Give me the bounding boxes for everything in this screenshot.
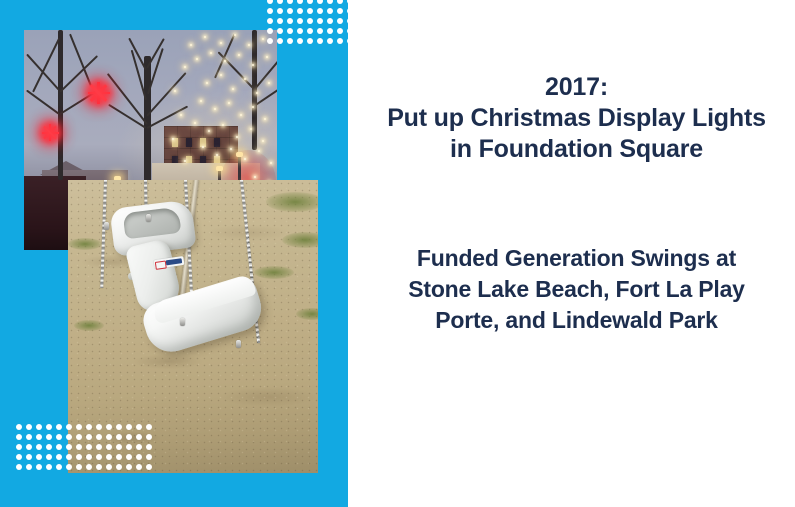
subheadline-line-3: Porte, and Lindewald Park xyxy=(368,305,786,336)
text-column: 2017: Put up Christmas Display Lights in… xyxy=(358,0,795,507)
headline-block: 2017: Put up Christmas Display Lights in… xyxy=(371,72,783,165)
photo-generation-swing xyxy=(68,180,318,473)
chain-clip xyxy=(146,214,151,222)
chain-clip xyxy=(180,318,185,326)
grass-patch xyxy=(74,320,104,331)
street-lamp-head xyxy=(236,152,243,157)
chain-clip xyxy=(236,340,241,348)
subheadline-block: Funded Generation Swings at Stone Lake B… xyxy=(368,165,786,336)
tree-trunk-left xyxy=(58,30,63,180)
subheadline-line-2: Stone Lake Beach, Fort La Play xyxy=(368,274,786,305)
grass-patch xyxy=(254,266,294,279)
headline-line-2: Put up Christmas Display Lights xyxy=(371,103,783,134)
subheadline-line-1: Funded Generation Swings at xyxy=(368,243,786,274)
grass-patch xyxy=(266,192,318,212)
street-lamp-head-2 xyxy=(216,166,223,171)
slide-canvas: 2017: Put up Christmas Display Lights in… xyxy=(0,0,795,507)
grass-patch xyxy=(68,238,102,250)
chain-clip xyxy=(104,222,109,230)
headline-line-3: in Foundation Square xyxy=(371,134,783,165)
headline-year: 2017: xyxy=(371,72,783,103)
